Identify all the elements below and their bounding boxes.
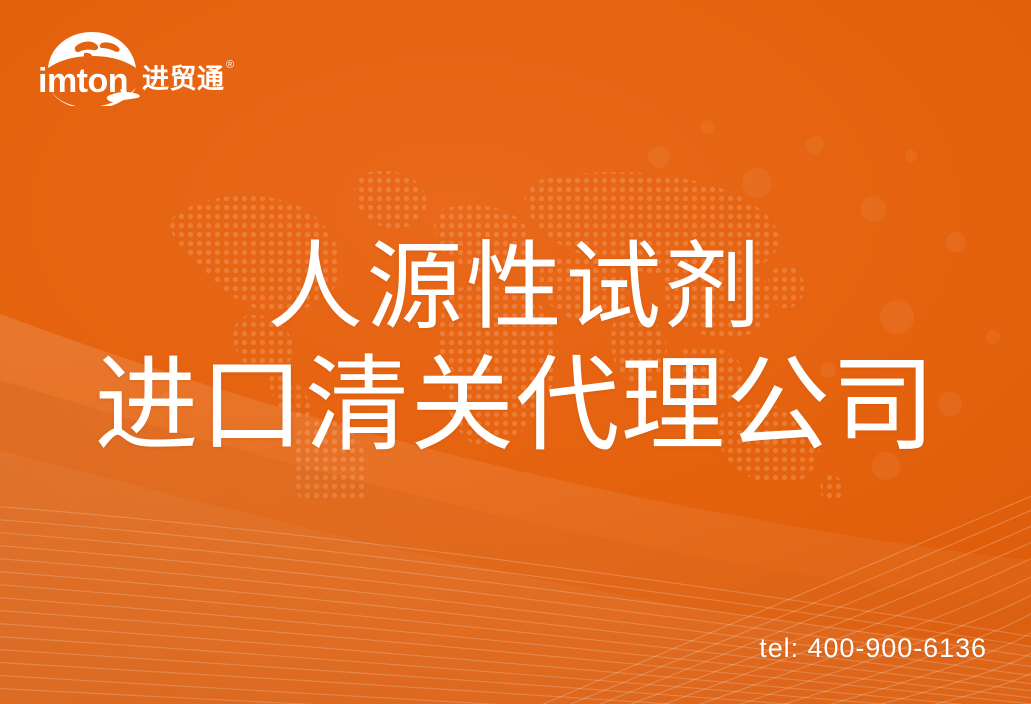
telephone-text[interactable]: tel: 400-900-6136 <box>759 633 987 664</box>
logo-chinese-name: 进贸通 <box>142 64 225 95</box>
headline-line-1: 人源性试剂 <box>0 236 1031 340</box>
headline: 人源性试剂 进口清关代理公司 <box>0 236 1031 462</box>
headline-line-2: 进口清关代理公司 <box>0 350 1031 462</box>
promo-banner: imton 进贸通 ® 人源性试剂 进口清关代理公司 tel: 400-900-… <box>0 0 1031 704</box>
registered-trademark-icon: ® <box>226 59 234 71</box>
imton-logo[interactable]: imton 进贸通 ® <box>36 26 246 106</box>
